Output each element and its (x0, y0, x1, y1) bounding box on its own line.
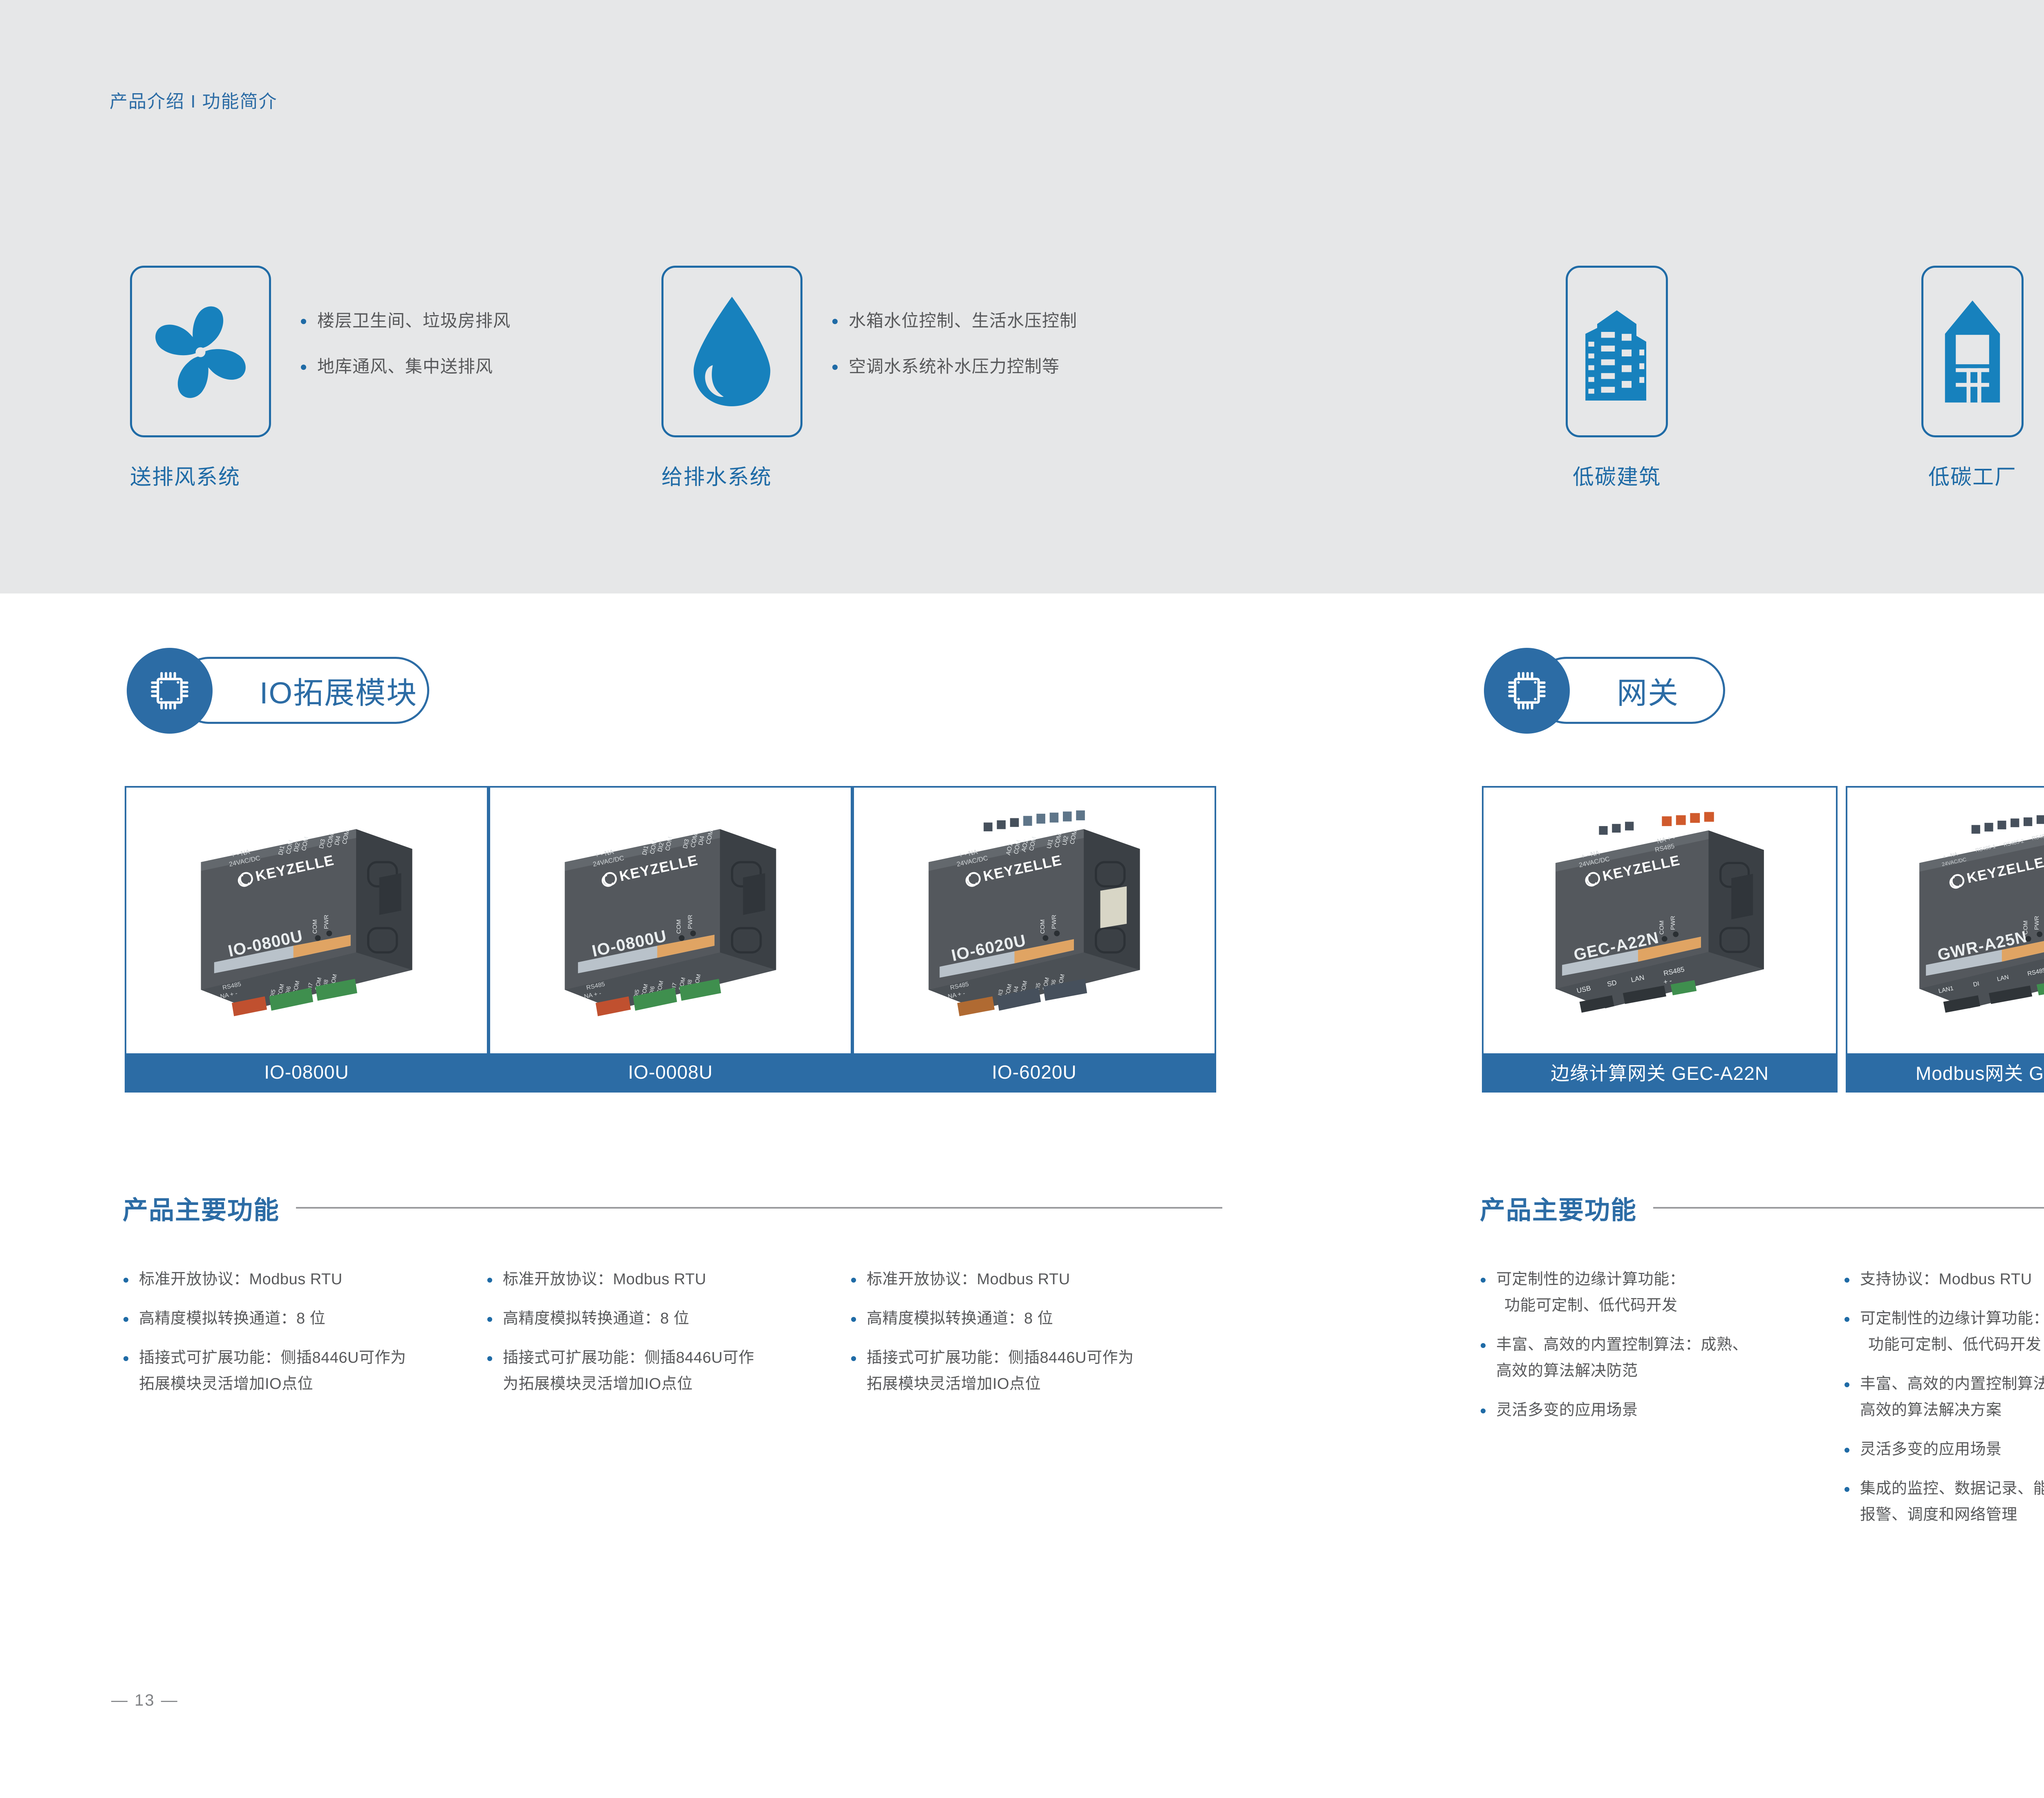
water-bullet-list: 水箱水位控制、生活水压控制 空调水系统补水压力控制等 (830, 311, 1077, 403)
list-item: 灵活多变的应用场景 (1480, 1397, 1831, 1423)
product-label: 边缘计算网关 GEC-A22N (1484, 1053, 1836, 1091)
svg-text:PWR: PWR (1051, 915, 1058, 929)
feature-column-io-2: 标准开放协议：Modbus RTU 高精度模拟转换通道：8 位 插接式可扩展功能… (486, 1266, 846, 1410)
list-item: 标准开放协议：Modbus RTU (123, 1266, 482, 1292)
section-badge-io: IO拓展模块 (127, 648, 437, 734)
svg-text:COM: COM (675, 919, 682, 934)
product-label: IO-0008U (490, 1053, 851, 1091)
fan-tile (130, 266, 271, 437)
list-item: 支持协议：Modbus RTU (1844, 1266, 2044, 1292)
feature-column-gateway-2: 支持协议：Modbus RTU 可定制性的边缘计算功能： 功能可定制、低代码开发… (1844, 1266, 2044, 1541)
list-item: 楼层卫生间、垃圾房排风 (298, 311, 511, 331)
fan-caption: 送排风系统 (130, 460, 240, 490)
section-badge-gateway-label: 网关 (1617, 669, 1679, 712)
svg-text:COM: COM (1659, 920, 1665, 935)
features-heading-gateway: 产品主要功能 (1480, 1189, 2044, 1226)
product-image: + - NA 24VAC/DC DI1 COM DI2 COM DI3 COM … (126, 788, 487, 1053)
svg-text:PWR: PWR (1670, 916, 1676, 930)
feature-column-io-1: 标准开放协议：Modbus RTU 高精度模拟转换通道：8 位 插接式可扩展功能… (123, 1266, 482, 1410)
io-module-device-icon: + - NA 24VAC/DC DI1 COM DI2 COM DI3 COM … (164, 804, 450, 1037)
top-grey-band (0, 0, 2044, 593)
section-badge-io-label: IO拓展模块 (260, 669, 417, 712)
water-tile (661, 266, 802, 437)
low-carbon-factory-caption: 低碳工厂 (1921, 460, 2024, 490)
low-carbon-building-caption: 低碳建筑 (1566, 460, 1668, 490)
low-carbon-building-tile (1566, 266, 1668, 437)
product-card[interactable]: + - NA 24VAC/DC DI1 COM DI2 COM DI3 COM … (489, 786, 852, 1093)
svg-text:COM: COM (312, 919, 318, 934)
product-image: + - NA 24VAC/DC NA + - RS485 KEYZELLE GE… (1484, 788, 1836, 1053)
feature-list: 可定制性的边缘计算功能： 功能可定制、低代码开发 丰富、高效的内置控制算法：成熟… (1480, 1266, 1831, 1423)
product-card[interactable]: + - NA 24VAC/DC NA + - RS485 KEYZELLE GE… (1482, 786, 1838, 1093)
feature-column-gateway-1: 可定制性的边缘计算功能： 功能可定制、低代码开发 丰富、高效的内置控制算法：成熟… (1480, 1266, 1831, 1436)
list-item: 可定制性的边缘计算功能： 功能可定制、低代码开发 (1844, 1305, 2044, 1358)
list-item: 标准开放协议：Modbus RTU (486, 1266, 846, 1292)
chip-icon (127, 648, 213, 734)
product-label: IO-6020U (854, 1053, 1215, 1091)
product-image: + - NA 24VAC/DC AO1 COM AO2 COM UI1 COM … (854, 788, 1215, 1053)
office-building-icon (1568, 268, 1666, 435)
list-item: 插接式可扩展功能：侧插8446U可作为 拓展模块灵活增加IO点位 (850, 1345, 1210, 1397)
svg-text:PWR: PWR (323, 915, 330, 929)
list-item: 空调水系统补水压力控制等 (830, 356, 1077, 377)
folio-left: — 13 — (111, 1691, 179, 1710)
gateway-device-icon: + - NA 24VAC/DC RS485-1 RS485-2 RS485-3 … (1883, 804, 2044, 1037)
list-item: 标准开放协议：Modbus RTU (850, 1266, 1210, 1292)
list-item: 可定制性的边缘计算功能： 功能可定制、低代码开发 (1480, 1266, 1831, 1319)
svg-text:DI: DI (1972, 981, 1980, 988)
list-item: 地库通风、集中送排风 (298, 356, 511, 377)
gateway-device-icon: + - NA 24VAC/DC NA + - RS485 KEYZELLE GE… (1519, 804, 1801, 1037)
list-item: 丰富、高效的内置控制算法：成熟、 高效的算法解决方案 (1844, 1371, 2044, 1423)
features-heading-io: 产品主要功能 (123, 1189, 1222, 1226)
product-label: IO-0800U (126, 1053, 487, 1091)
feature-list: 标准开放协议：Modbus RTU 高精度模拟转换通道：8 位 插接式可扩展功能… (486, 1266, 846, 1397)
section-badge-gateway: 网关 (1484, 648, 1737, 734)
io-module-device-icon: + - NA 24VAC/DC DI1 COM DI2 COM DI3 COM … (527, 804, 814, 1037)
list-item: 水箱水位控制、生活水压控制 (830, 311, 1077, 331)
list-item: 集成的监控、数据记录、能耗计量、 报警、调度和网络管理 (1844, 1476, 2044, 1528)
section-badge-io-pill: IO拓展模块 (176, 657, 429, 724)
svg-text:COM: COM (1039, 919, 1046, 934)
feature-column-io-3: 标准开放协议：Modbus RTU 高精度模拟转换通道：8 位 插接式可扩展功能… (850, 1266, 1210, 1410)
svg-text:COM: COM (2023, 920, 2029, 935)
list-item: 插接式可扩展功能：侧插8446U可作为 拓展模块灵活增加IO点位 (123, 1345, 482, 1397)
heading-rule (296, 1207, 1222, 1209)
feature-list: 标准开放协议：Modbus RTU 高精度模拟转换通道：8 位 插接式可扩展功能… (123, 1266, 482, 1397)
brochure-spread: 产品介绍 I 功能简介 产品介绍 I 功能简介 楼层卫生间、垃圾房排风 地库通风… (0, 0, 2044, 1798)
factory-icon (1923, 268, 2022, 435)
svg-text:PWR: PWR (687, 915, 694, 929)
feature-list: 支持协议：Modbus RTU 可定制性的边缘计算功能： 功能可定制、低代码开发… (1844, 1266, 2044, 1528)
io-module-device-icon: + - NA 24VAC/DC AO1 COM AO2 COM UI1 COM … (891, 804, 1177, 1037)
water-drop-icon (663, 268, 800, 435)
features-heading-gateway-text: 产品主要功能 (1480, 1189, 1637, 1226)
chip-icon (1484, 648, 1570, 734)
fan-icon (132, 268, 269, 435)
product-card[interactable]: + - NA 24VAC/DC RS485-1 RS485-2 RS485-3 … (1846, 786, 2044, 1093)
list-item: 高精度模拟转换通道：8 位 (486, 1305, 846, 1332)
water-caption: 给排水系统 (661, 460, 772, 490)
list-item: 丰富、高效的内置控制算法：成熟、 高效的算法解决防范 (1480, 1332, 1831, 1384)
product-card[interactable]: + - NA 24VAC/DC AO1 COM AO2 COM UI1 COM … (852, 786, 1216, 1093)
product-image: + - NA 24VAC/DC RS485-1 RS485-2 RS485-3 … (1847, 788, 2044, 1053)
list-item: 高精度模拟转换通道：8 位 (850, 1305, 1210, 1332)
list-item: 插接式可扩展功能：侧插8446U可作 为拓展模块灵活增加IO点位 (486, 1345, 846, 1397)
list-item: 灵活多变的应用场景 (1844, 1436, 2044, 1462)
running-head-left: 产品介绍 I 功能简介 (110, 87, 278, 113)
fan-bullet-list: 楼层卫生间、垃圾房排风 地库通风、集中送排风 (298, 311, 511, 403)
features-heading-io-text: 产品主要功能 (123, 1189, 280, 1226)
low-carbon-factory-tile (1921, 266, 2024, 437)
list-item: 高精度模拟转换通道：8 位 (123, 1305, 482, 1332)
heading-rule (1653, 1207, 2044, 1209)
product-card[interactable]: + - NA 24VAC/DC DI1 COM DI2 COM DI3 COM … (125, 786, 489, 1093)
product-label: Modbus网关 GWR-A25N (1847, 1053, 2044, 1091)
svg-text:PWR: PWR (2034, 916, 2040, 930)
feature-list: 标准开放协议：Modbus RTU 高精度模拟转换通道：8 位 插接式可扩展功能… (850, 1266, 1210, 1397)
product-image: + - NA 24VAC/DC DI1 COM DI2 COM DI3 COM … (490, 788, 851, 1053)
